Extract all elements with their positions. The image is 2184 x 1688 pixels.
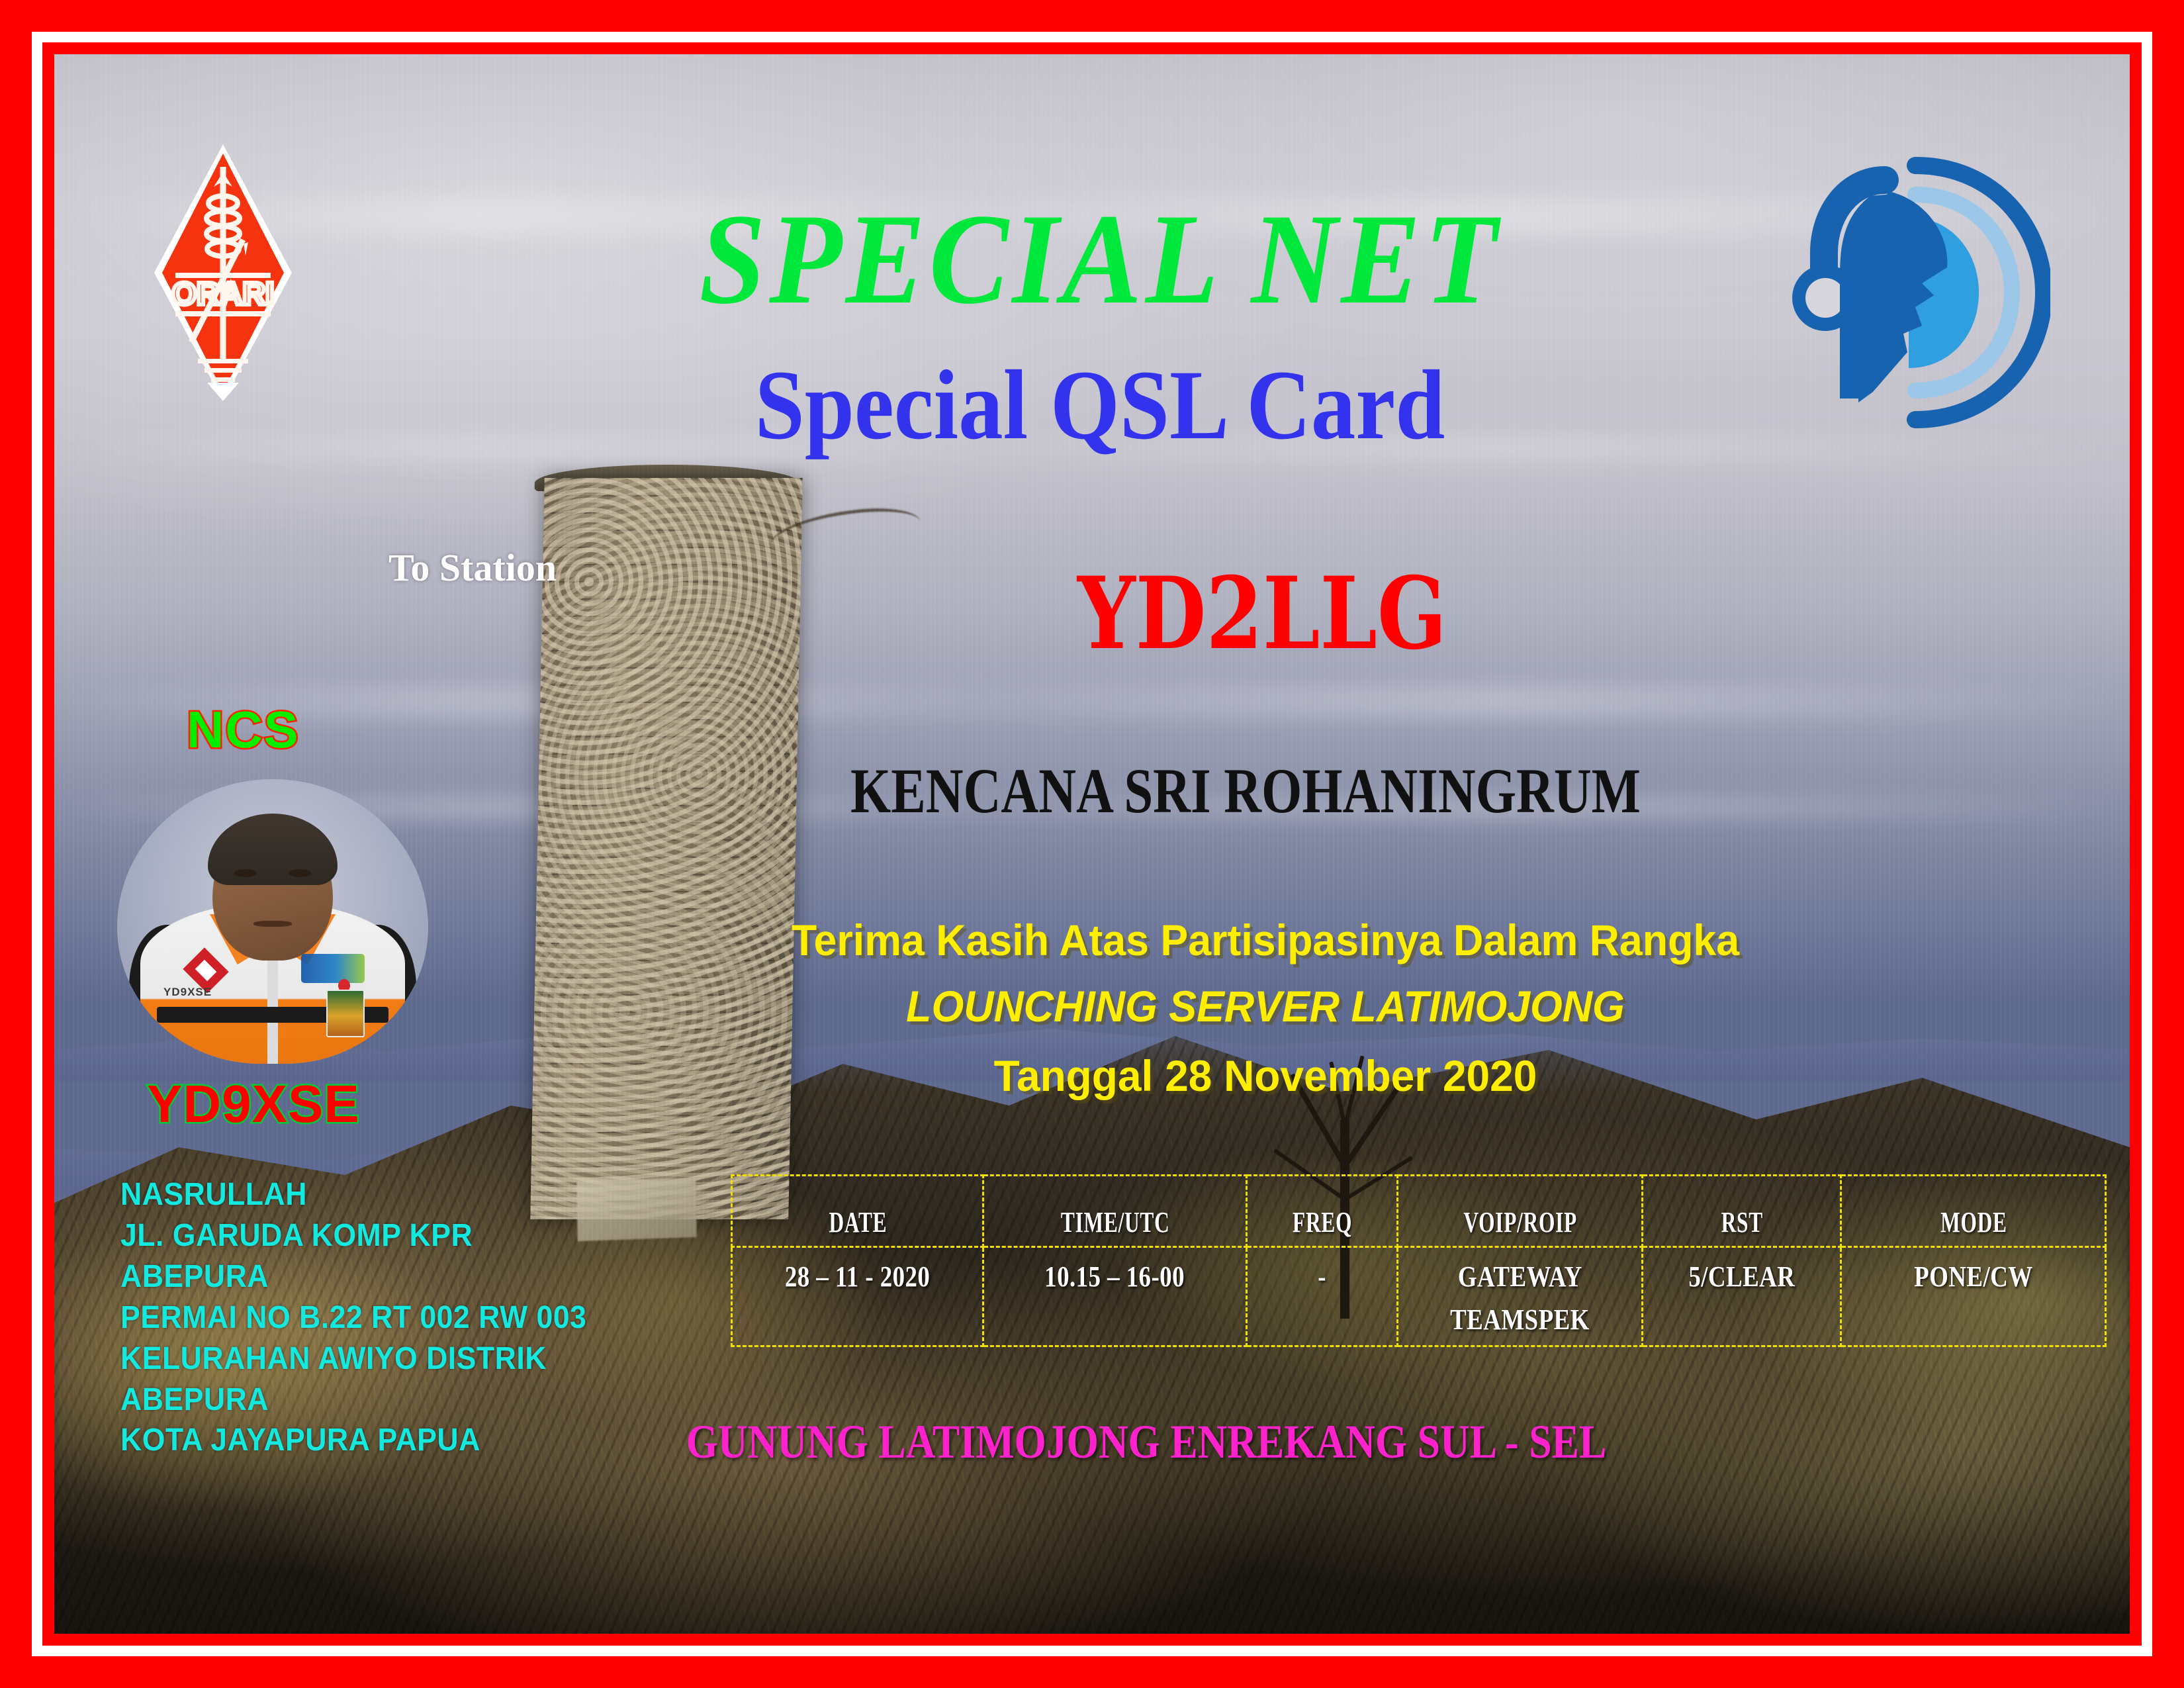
address-line: KOTA JAYAPURA PAPUA — [120, 1420, 586, 1461]
column-header-rst: RST — [1657, 1176, 1826, 1247]
qso-log-table: DATE TIME/UTC FREQ VOIP/ROIP RST MODE 28… — [731, 1174, 2107, 1347]
shirt-id-card — [326, 990, 365, 1037]
website-address: Address : amatir.latimojong.com — [1312, 1630, 1915, 1634]
cell-voip-roip: GATEWAY TEAMSPEK — [1398, 1247, 1643, 1346]
orari-diamond-logo: ORARI — [150, 140, 296, 405]
thanks-line-2: LOUNCHING SERVER LATIMOJONG — [700, 981, 1831, 1031]
shirt-callsign-text: YD9XSE — [163, 986, 212, 999]
cell-rst: 5/CLEAR — [1643, 1247, 1841, 1346]
cell-freq: - — [1247, 1247, 1398, 1346]
column-header-mode: MODE — [1861, 1176, 2086, 1247]
event-location: GUNUNG LATIMOJONG ENREKANG SUL - SEL — [606, 1415, 1687, 1470]
column-header-date: DATE — [751, 1176, 964, 1247]
recipient-callsign: YD2LLG — [896, 564, 1629, 663]
card-frame-red-inner: ORARI — [42, 42, 2142, 1646]
cell-date: 28 – 11 - 2020 — [732, 1247, 983, 1346]
address-line: NASRULLAH — [120, 1174, 586, 1215]
recipient-name: KENCANA SRI ROHANINGRUM — [757, 755, 1734, 827]
operator-portrait-avatar: YD9XSE — [117, 779, 428, 1064]
address-line: JL. GARUDA KOMP KPR — [120, 1215, 586, 1256]
shirt-org-logo — [301, 954, 365, 983]
column-header-time: TIME/UTC — [1003, 1176, 1226, 1247]
address-line: PERMAI NO B.22 RT 002 RW 003 — [120, 1297, 586, 1338]
to-station-label: To Station — [388, 545, 557, 590]
table-header-row: DATE TIME/UTC FREQ VOIP/ROIP RST MODE — [732, 1176, 2106, 1247]
column-header-voip-roip: VOIP/ROIP — [1416, 1176, 1624, 1247]
cell-mode: PONE/CW — [1841, 1247, 2106, 1346]
table-row: 28 – 11 - 2020 10.15 – 16-00 - GATEWAY T… — [732, 1247, 2106, 1346]
operator-address-block: NASRULLAH JL. GARUDA KOMP KPR ABEPURA PE… — [120, 1174, 586, 1461]
page-subtitle: Special QSL Card — [540, 355, 1660, 455]
cell-time: 10.15 – 16-00 — [983, 1247, 1247, 1346]
card-frame-white: ORARI — [32, 32, 2152, 1656]
address-line: ABEPURA — [120, 1380, 586, 1421]
thanks-line-3: Tanggal 28 November 2020 — [688, 1051, 1843, 1101]
page-title: SPECIAL NET — [527, 195, 1672, 324]
operator-callsign: YD9XSE — [147, 1074, 360, 1135]
headset-profile-logo — [1786, 154, 2050, 432]
orari-wordmark: ORARI — [172, 277, 275, 312]
ncs-role-label: NCS — [187, 700, 300, 760]
address-line: ABEPURA — [120, 1256, 586, 1297]
column-header-freq: FREQ — [1258, 1176, 1387, 1247]
address-line: KELURAHAN AWIYO DISTRIK — [120, 1338, 586, 1380]
thanks-line-1: Terima Kasih Atas Partisipasinya Dalam R… — [700, 915, 1831, 965]
qsl-card: ORARI — [0, 0, 2184, 1688]
club-motto: "AMATIR RADIO ADALAH PROGRESIVE" — [134, 1633, 919, 1634]
background-photograph: ORARI — [54, 54, 2130, 1634]
